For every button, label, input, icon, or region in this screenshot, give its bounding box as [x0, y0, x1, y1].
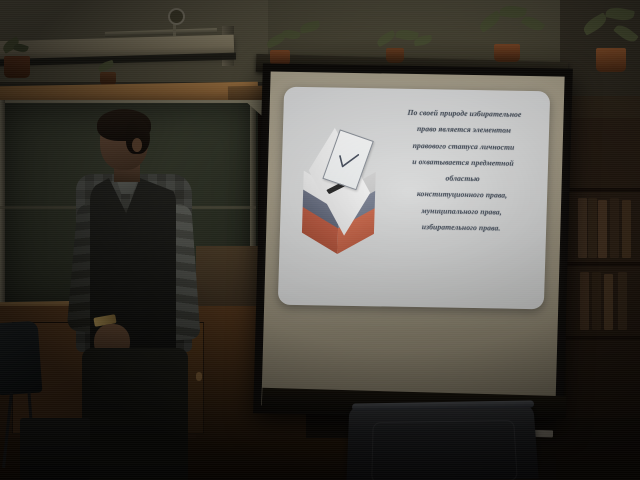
bookshelf-shelf [566, 336, 640, 340]
book [580, 272, 589, 330]
slide-body-text: По своей природе избирательное право явл… [385, 105, 541, 238]
small-flower-pot [4, 56, 30, 78]
flower-pot [386, 48, 404, 63]
lamp-head-icon [168, 8, 185, 25]
flower-pot [494, 44, 520, 62]
ballot-box-icon [297, 135, 385, 256]
chair[interactable] [0, 321, 42, 396]
presenter-ear [132, 138, 142, 152]
book [598, 200, 607, 258]
book [622, 200, 631, 258]
chalkboard-frame-left [0, 100, 5, 308]
flower-pot [596, 48, 626, 72]
projected-slide: По своей природе избирательное право явл… [278, 87, 550, 310]
bookshelf [566, 118, 640, 418]
photo-scene: По своей природе избирательное право явл… [0, 0, 640, 480]
book [588, 198, 597, 258]
desk-surface-panel [371, 420, 518, 480]
book [618, 272, 627, 330]
bookshelf-shelf [566, 188, 640, 192]
book [592, 272, 601, 330]
slide-line: По своей природе избирательное [388, 105, 540, 124]
checkmark-icon [334, 148, 360, 173]
presenter-trousers [82, 348, 188, 480]
slide-line: избирательного права. [385, 219, 537, 238]
book [578, 198, 587, 258]
book [610, 198, 619, 258]
book [604, 274, 613, 330]
waste-bin [20, 418, 90, 480]
bookshelf-shelf [566, 262, 640, 266]
